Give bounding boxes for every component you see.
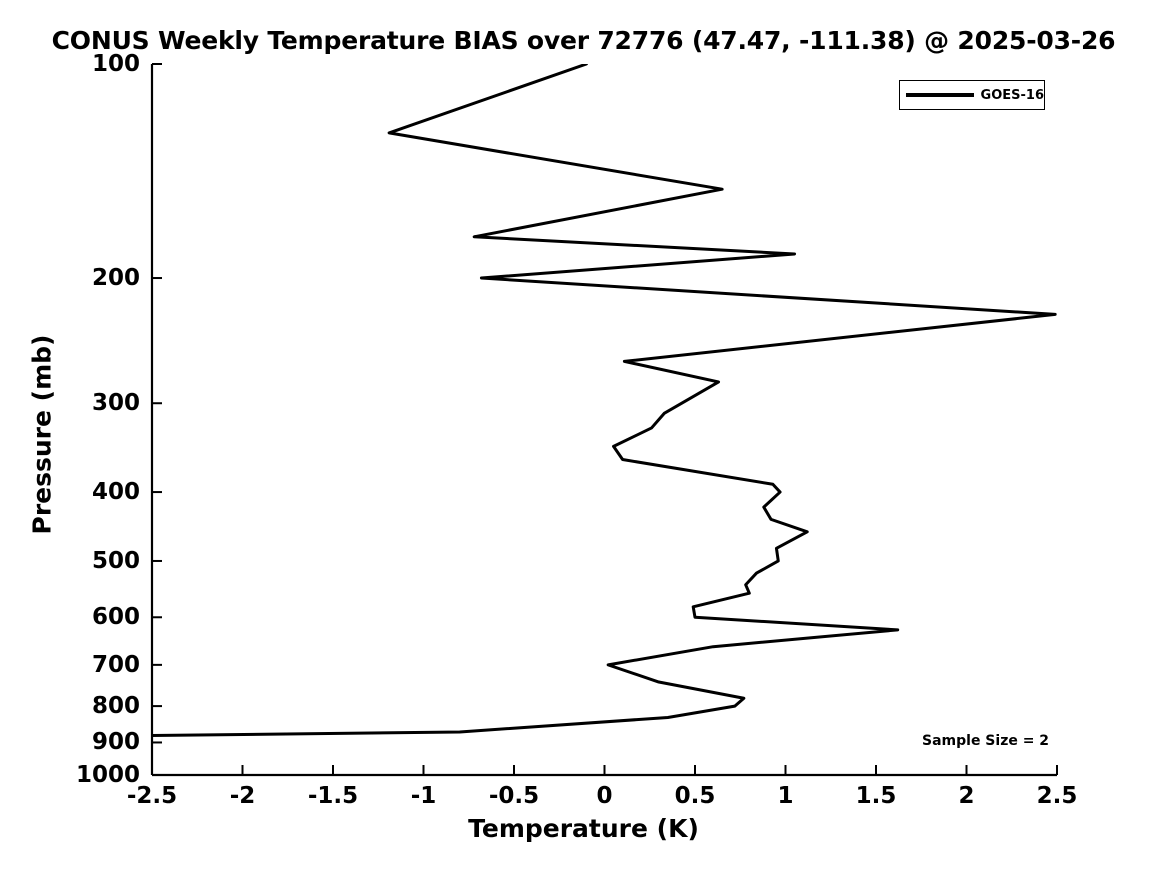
y-tick-label: 200 xyxy=(0,265,140,291)
x-tick-label: -1.5 xyxy=(308,783,358,809)
legend-item-label: GOES-16 xyxy=(981,88,1044,103)
y-tick-label: 700 xyxy=(0,652,140,678)
x-axis-title: Temperature (K) xyxy=(0,814,1167,843)
legend[interactable]: GOES-16 xyxy=(899,80,1045,110)
x-tick-label: 0 xyxy=(596,783,612,809)
y-axis-title: Pressure (mb) xyxy=(28,135,57,735)
y-tick-label: 500 xyxy=(0,548,140,574)
x-tick-label: 1.5 xyxy=(856,783,897,809)
data-series-goes16 xyxy=(152,64,1055,736)
sample-size-annotation: Sample Size = 2 xyxy=(922,733,1049,749)
y-tick-label: 100 xyxy=(0,51,140,77)
y-tick-label: 400 xyxy=(0,479,140,505)
legend-line-swatch xyxy=(906,93,974,97)
series-line-goes-16 xyxy=(152,64,1055,736)
y-axis-ticks xyxy=(152,64,162,775)
x-tick-label: -2.5 xyxy=(127,783,177,809)
x-tick-label: 2 xyxy=(958,783,974,809)
y-tick-label: 900 xyxy=(0,729,140,755)
y-tick-label: 800 xyxy=(0,693,140,719)
y-tick-label: 600 xyxy=(0,604,140,630)
y-tick-label: 1000 xyxy=(0,762,140,788)
x-tick-label: -2 xyxy=(230,783,256,809)
y-tick-label: 300 xyxy=(0,390,140,416)
x-tick-label: 0.5 xyxy=(675,783,716,809)
x-tick-label: -0.5 xyxy=(489,783,539,809)
x-axis-ticks xyxy=(152,765,1057,775)
x-tick-label: -1 xyxy=(411,783,437,809)
chart-figure: CONUS Weekly Temperature BIAS over 72776… xyxy=(0,0,1167,875)
x-tick-label: 1 xyxy=(777,783,793,809)
x-tick-label: 2.5 xyxy=(1037,783,1078,809)
